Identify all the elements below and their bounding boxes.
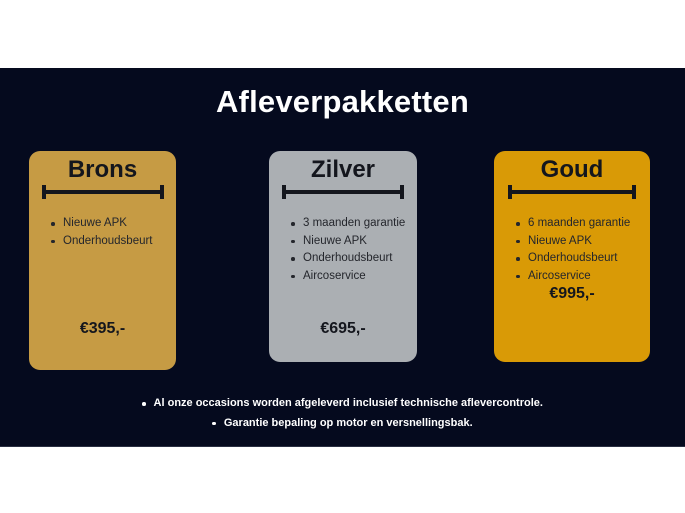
package-card-row: Brons Nieuwe APK Onderhoudsbeurt €395,- … [0,151,685,381]
divider-cap-right [160,185,164,199]
footer-notes: Al onze occasions worden afgeleverd incl… [0,396,685,436]
footer-note-text: Garantie bepaling op motor en versnellin… [224,416,473,432]
title-divider-icon [282,185,404,199]
bullet-icon [142,402,146,406]
footer-note-text: Al onze occasions worden afgeleverd incl… [154,396,543,412]
list-item: Nieuwe APK [516,233,650,250]
package-price-brons: €395,- [29,320,176,338]
list-item: Onderhoudsbeurt [516,250,650,267]
list-item: Nieuwe APK [291,233,417,250]
feature-list-brons: Nieuwe APK Onderhoudsbeurt [29,215,176,250]
list-item: Nieuwe APK [51,215,176,232]
divider-bar [508,190,636,194]
pricing-panel: Afleverpakketten Brons Nieuwe APK Onderh… [0,68,685,447]
list-item: Onderhoudsbeurt [291,250,417,267]
package-title-goud: Goud [494,157,650,182]
page-title: Afleverpakketten [0,84,685,120]
feature-list-goud: 6 maanden garantie Nieuwe APK Onderhouds… [494,215,650,285]
feature-list-zilver: 3 maanden garantie Nieuwe APK Onderhouds… [269,215,417,285]
list-item: 6 maanden garantie [516,215,650,232]
divider-bar [282,190,404,194]
package-title-brons: Brons [29,157,176,182]
list-item: Onderhoudsbeurt [51,233,176,250]
package-price-zilver: €695,- [269,320,417,338]
package-title-zilver: Zilver [269,157,417,182]
divider-cap-right [632,185,636,199]
slide-canvas: Afleverpakketten Brons Nieuwe APK Onderh… [0,0,685,513]
list-item: Aircoservice [291,268,417,285]
title-divider-icon [42,185,164,199]
divider-cap-right [400,185,404,199]
package-price-goud: €995,- [494,285,650,303]
title-divider-icon [508,185,636,199]
footer-note-2: Garantie bepaling op motor en versnellin… [0,416,685,432]
bullet-icon [212,422,216,426]
list-item: Aircoservice [516,268,650,285]
package-card-goud[interactable]: Goud 6 maanden garantie Nieuwe APK Onder… [494,151,650,362]
list-item: 3 maanden garantie [291,215,417,232]
divider-bar [42,190,164,194]
package-card-brons[interactable]: Brons Nieuwe APK Onderhoudsbeurt €395,- [29,151,176,370]
footer-note-1: Al onze occasions worden afgeleverd incl… [0,396,685,412]
package-card-zilver[interactable]: Zilver 3 maanden garantie Nieuwe APK Ond… [269,151,417,362]
